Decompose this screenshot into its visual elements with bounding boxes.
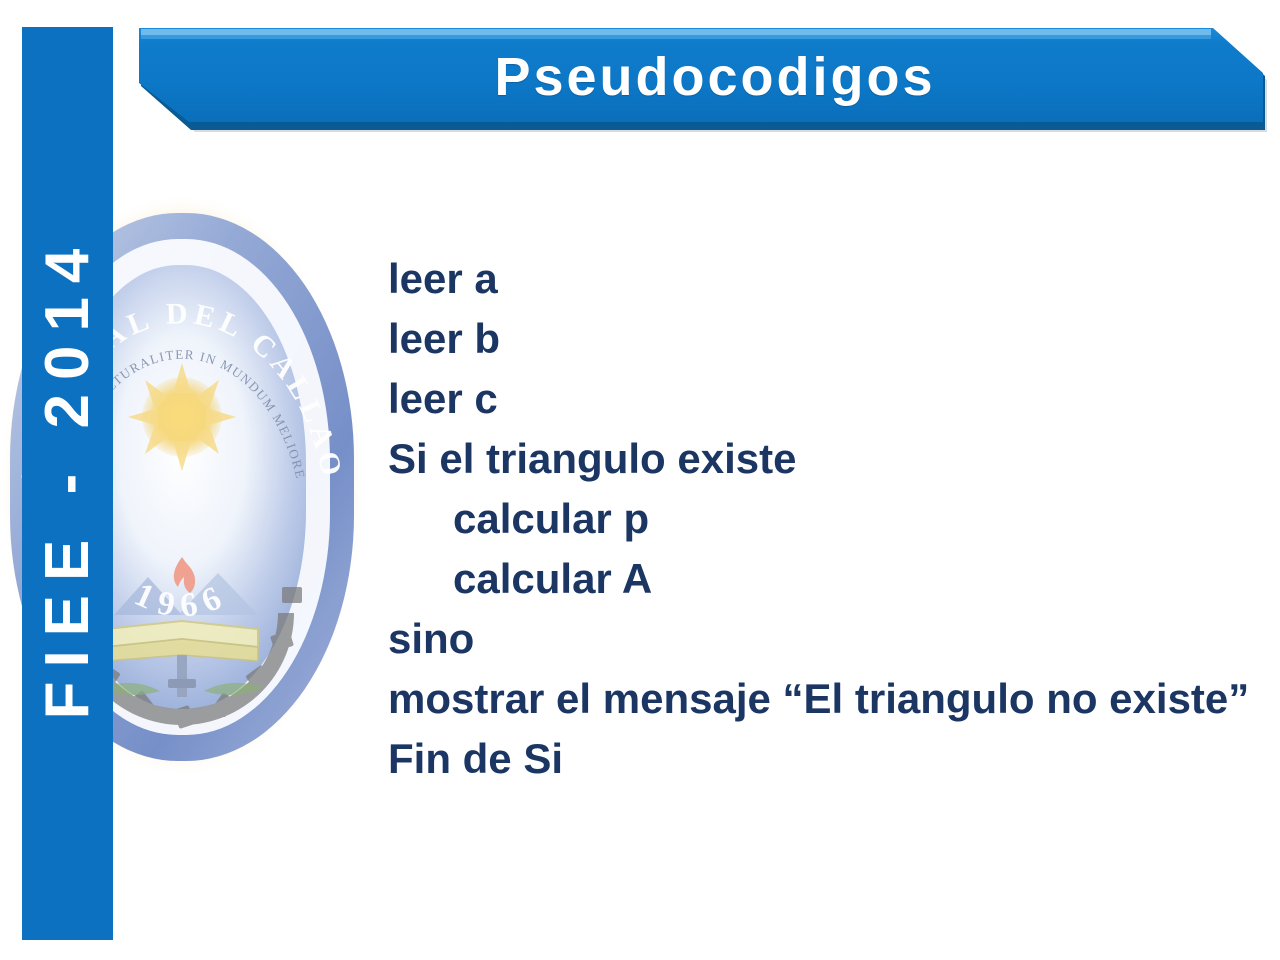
- code-line: calcular A: [388, 549, 1268, 609]
- svg-text:1966: 1966: [129, 576, 235, 625]
- seal-year: 1966: [129, 576, 235, 625]
- pseudocode-block: leer a leer b leer c Si el triangulo exi…: [388, 249, 1268, 789]
- code-line: Fin de Si: [388, 729, 1268, 789]
- code-line: leer b: [388, 309, 1268, 369]
- code-line: sino: [388, 609, 1268, 669]
- title-banner: Pseudocodigos: [137, 26, 1267, 138]
- code-line: Si el triangulo existe: [388, 429, 1268, 489]
- code-line: mostrar el mensaje “El triangulo no exis…: [388, 669, 1268, 729]
- page-title: Pseudocodigos: [137, 26, 1263, 128]
- code-line: leer a: [388, 249, 1268, 309]
- slide-canvas: NACIONAL DEL CALLAO SCIENCE ET CULTURALI…: [0, 0, 1280, 960]
- left-accent-bar: FIEE - 2014: [22, 27, 113, 940]
- code-line: calcular p: [388, 489, 1268, 549]
- sidebar-label: FIEE - 2014: [37, 234, 99, 733]
- code-line: leer c: [388, 369, 1268, 429]
